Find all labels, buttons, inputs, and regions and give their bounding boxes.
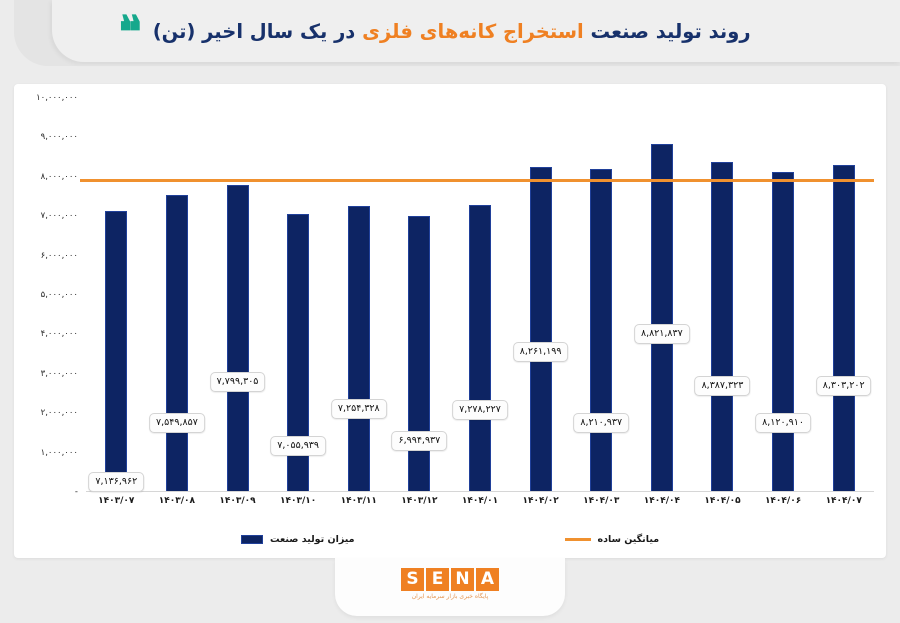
bar[interactable] [772, 172, 794, 492]
sena-logo-letter: E [426, 568, 449, 591]
bar-value-label: ۸,۳۸۷,۳۲۳ [695, 376, 751, 396]
chart-card: ۱۰,۰۰۰,۰۰۰۹,۰۰۰,۰۰۰۸,۰۰۰,۰۰۰۷,۰۰۰,۰۰۰۶,۰… [14, 84, 886, 558]
bar-series [86, 98, 874, 492]
x-axis-tick-label: ۱۴۰۴/۰۱ [462, 496, 498, 506]
bar[interactable] [530, 167, 552, 492]
bar-value-label: ۷,۵۴۹,۸۵۷ [149, 413, 205, 433]
sena-logo-subtitle: پایگاه خبری بازار سرمایه ایران [412, 593, 489, 600]
sena-logo-letter: S [401, 568, 424, 591]
average-line [80, 179, 874, 182]
bar[interactable] [348, 206, 370, 492]
bar-value-label: ۸,۲۶۱,۱۹۹ [513, 342, 569, 362]
x-axis-tick-label: ۱۴۰۳/۱۱ [341, 496, 377, 506]
page-title: روند تولید صنعت استخراج کانه‌های فلزی در… [153, 20, 751, 43]
y-axis-tick-label: ۱۰,۰۰۰,۰۰۰ [36, 93, 78, 103]
bar-value-label: ۷,۱۳۶,۹۶۲ [88, 472, 144, 492]
y-axis-tick-label: ۲,۰۰۰,۰۰۰ [41, 408, 78, 418]
y-axis: ۱۰,۰۰۰,۰۰۰۹,۰۰۰,۰۰۰۸,۰۰۰,۰۰۰۷,۰۰۰,۰۰۰۶,۰… [14, 84, 84, 558]
legend-swatch-line-icon [565, 538, 591, 541]
bar[interactable] [166, 195, 188, 492]
y-axis-tick-label: ۵,۰۰۰,۰۰۰ [41, 290, 78, 300]
bar-value-label: ۷,۲۷۸,۲۲۷ [452, 400, 508, 420]
x-axis-tick-label: ۱۴۰۴/۰۵ [704, 496, 740, 506]
quote-mark-icon: ❝ [122, 11, 143, 55]
title-segment-2: استخراج کانه‌های فلزی [362, 20, 584, 43]
x-axis-tick-label: ۱۴۰۴/۰۷ [826, 496, 862, 506]
footer-plate: SENA پایگاه خبری بازار سرمایه ایران [335, 558, 565, 616]
y-axis-tick-label: ۳,۰۰۰,۰۰۰ [41, 369, 78, 379]
bar[interactable] [651, 144, 673, 492]
sena-logo-letters: SENA [401, 568, 499, 591]
y-axis-tick-label: ۷,۰۰۰,۰۰۰ [41, 211, 78, 221]
y-axis-tick-label: ۹,۰۰۰,۰۰۰ [41, 132, 78, 142]
legend-item-average[interactable]: میانگین ساده [565, 534, 660, 545]
bar-value-label: ۷,۲۵۴,۳۲۸ [331, 399, 387, 419]
x-axis-tick-label: ۱۴۰۳/۱۲ [401, 496, 437, 506]
bar-value-label: ۷,۷۹۹,۳۰۵ [210, 372, 266, 392]
sena-logo: SENA پایگاه خبری بازار سرمایه ایران [335, 568, 565, 600]
bar-value-label: ۸,۲۱۰,۹۳۷ [573, 413, 629, 433]
bar[interactable] [833, 165, 855, 492]
x-axis-tick-label: ۱۴۰۴/۰۶ [765, 496, 801, 506]
bar-value-label: ۸,۸۲۱,۸۳۷ [634, 324, 690, 344]
bar[interactable] [711, 162, 733, 492]
x-axis-tick-label: ۱۴۰۳/۰۷ [98, 496, 134, 506]
header-plate: روند تولید صنعت استخراج کانه‌های فلزی در… [52, 0, 900, 62]
x-axis-tick-label: ۱۴۰۳/۰۸ [159, 496, 195, 506]
sena-logo-letter: A [476, 568, 499, 591]
title-segment-3: در یک سال اخیر (تن) [153, 20, 356, 43]
x-axis-tick-label: ۱۴۰۴/۰۴ [644, 496, 680, 506]
bar[interactable] [469, 205, 491, 492]
bar-value-label: ۸,۳۰۳,۲۰۲ [816, 376, 872, 396]
title-row: روند تولید صنعت استخراج کانه‌های فلزی در… [122, 0, 900, 62]
chart-legend: میانگین ساده میزان تولید صنعت [14, 528, 886, 550]
x-axis-tick-label: ۱۴۰۳/۱۰ [280, 496, 316, 506]
x-axis-tick-label: ۱۴۰۳/۰۹ [219, 496, 255, 506]
x-axis-tick-label: ۱۴۰۴/۰۲ [522, 496, 558, 506]
page-footer: SENA پایگاه خبری بازار سرمایه ایران [0, 558, 900, 623]
bar[interactable] [105, 211, 127, 492]
bar-value-label: ۸,۱۲۰,۹۱۰ [755, 413, 811, 433]
y-axis-tick-label: ۸,۰۰۰,۰۰۰ [41, 172, 78, 182]
axis-baseline [86, 491, 874, 492]
title-segment-1: روند تولید صنعت [590, 20, 750, 43]
bar[interactable] [227, 185, 249, 492]
bar-value-label: ۷,۰۵۵,۹۳۹ [270, 436, 326, 456]
legend-swatch-bar-icon [241, 535, 263, 544]
page-header: روند تولید صنعت استخراج کانه‌های فلزی در… [0, 0, 900, 72]
plot-area [86, 98, 874, 492]
legend-label-average: میانگین ساده [598, 534, 660, 545]
y-axis-tick-label: ۱,۰۰۰,۰۰۰ [41, 448, 78, 458]
y-axis-tick-label: ۴,۰۰۰,۰۰۰ [41, 329, 78, 339]
y-axis-tick-label: - [75, 487, 78, 497]
legend-item-production[interactable]: میزان تولید صنعت [241, 534, 355, 545]
y-axis-tick-label: ۶,۰۰۰,۰۰۰ [41, 251, 78, 261]
chart-plot: ۱۰,۰۰۰,۰۰۰۹,۰۰۰,۰۰۰۸,۰۰۰,۰۰۰۷,۰۰۰,۰۰۰۶,۰… [14, 84, 886, 558]
x-axis: ۱۴۰۳/۰۷۱۴۰۳/۰۸۱۴۰۳/۰۹۱۴۰۳/۱۰۱۴۰۳/۱۱۱۴۰۳/… [86, 496, 874, 518]
bar[interactable] [590, 169, 612, 493]
legend-label-production: میزان تولید صنعت [270, 534, 355, 545]
bar-value-label: ۶,۹۹۴,۹۳۷ [391, 431, 447, 451]
sena-logo-letter: N [451, 568, 474, 591]
x-axis-tick-label: ۱۴۰۴/۰۳ [583, 496, 619, 506]
